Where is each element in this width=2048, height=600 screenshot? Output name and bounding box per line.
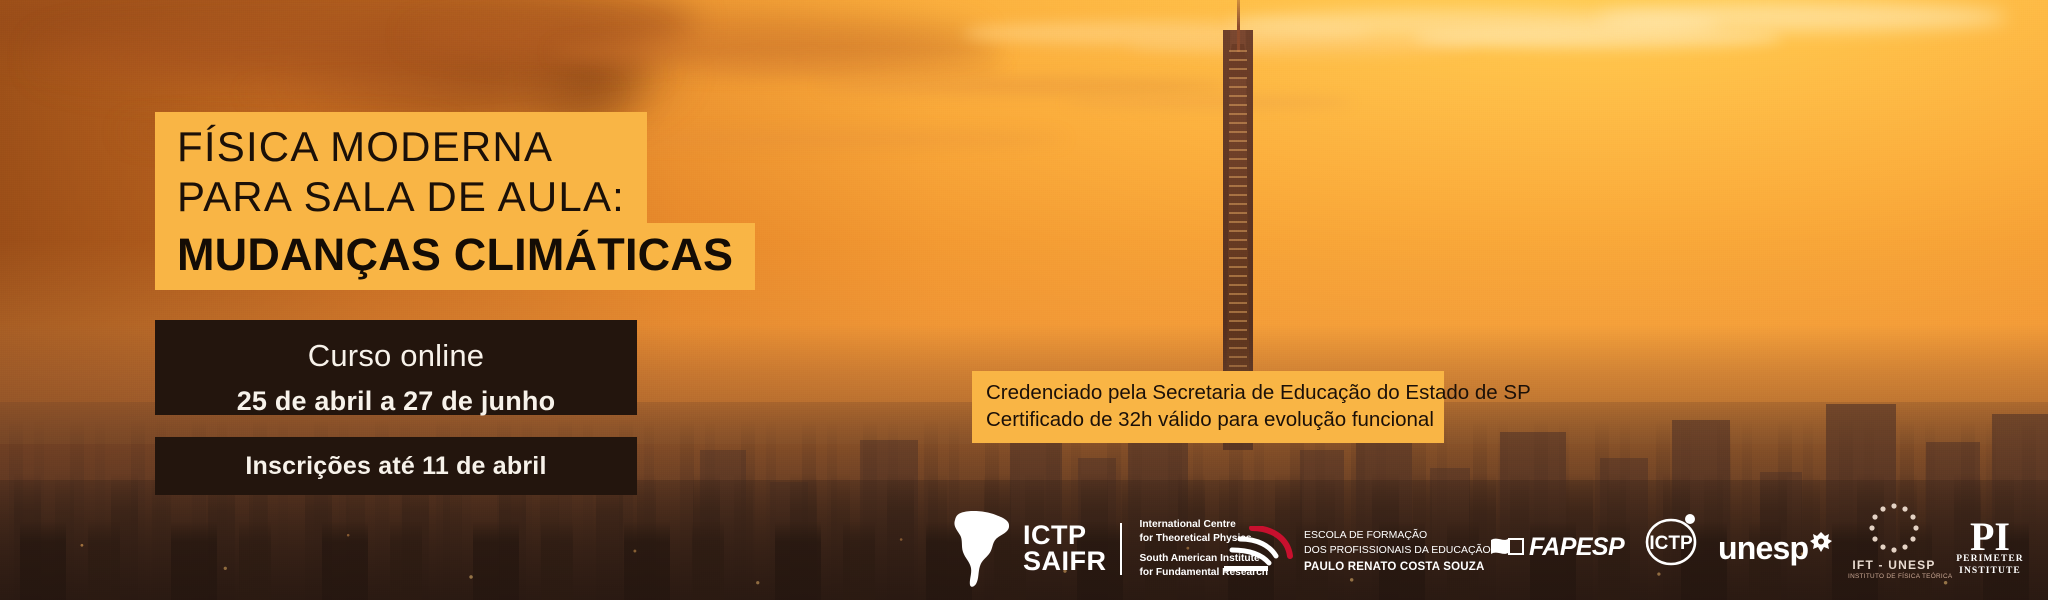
cloud-streak (1413, 27, 1782, 49)
sponsor-logo-strip: ICTP SAIFR International Centre for Theo… (0, 480, 2048, 600)
cloud-streak (676, 60, 1004, 78)
escola-swoosh-icon (1222, 526, 1294, 578)
course-subject-block: MUDANÇAS CLIMÁTICAS (155, 223, 755, 290)
perimeter-name-line-2: INSTITUTE (1944, 566, 2036, 578)
spire-tower-antenna (1237, 0, 1240, 52)
unesp-emblem-icon (1810, 532, 1832, 552)
course-dates-label: 25 de abril a 27 de junho (155, 371, 637, 415)
fapesp-logo: FAPESP (1490, 533, 1624, 562)
escola-line-2: DOS PROFISSIONAIS DA EDUCAÇÃO (1304, 543, 1491, 559)
south-america-map-icon (952, 510, 1014, 588)
course-format-label: Curso online (155, 320, 637, 371)
ift-unesp-logo: IFT - UNESP INSTITUTO DE FÍSICA TEÓRICA (1848, 501, 1940, 580)
cloud-streak (246, 84, 615, 102)
escola-line-3: PAULO RENATO COSTA SOUZA (1304, 559, 1491, 576)
course-title-line-1: FÍSICA MODERNA (177, 122, 625, 172)
perimeter-institute-logo: PI PERIMETER INSTITUTE (1944, 519, 2036, 578)
course-subject-text: MUDANÇAS CLIMÁTICAS (177, 231, 733, 278)
perimeter-pi-glyph: PI (1944, 519, 2036, 554)
credential-line-2: Certificado de 32h válido para evolução … (986, 406, 1430, 433)
ictp-orbit-icon: ICTP (1640, 512, 1702, 568)
unesp-wordmark: unesp (1718, 532, 1808, 564)
credential-line-1: Credenciado pela Secretaria de Educação … (986, 379, 1430, 406)
unesp-logo: unesp (1718, 532, 1832, 564)
perimeter-name-line-1: PERIMETER (1944, 554, 2036, 566)
ift-dotted-ring-icon (1867, 501, 1921, 555)
fapesp-flag-icon (1490, 536, 1524, 559)
course-format-box: Curso online 25 de abril a 27 de junho (155, 320, 637, 415)
ift-wordmark: IFT - UNESP (1848, 558, 1940, 572)
cloud-streak (1597, 3, 2007, 31)
ictp-saifr-logo: ICTP SAIFR International Centre for Theo… (952, 510, 1268, 588)
escola-formacao-text: ESCOLA DE FORMAÇÃO DOS PROFISSIONAIS DA … (1304, 528, 1491, 577)
svg-text:ICTP: ICTP (1649, 533, 1693, 554)
ictp-divider (1120, 523, 1122, 575)
escola-line-1: ESCOLA DE FORMAÇÃO (1304, 528, 1491, 544)
event-banner: FÍSICA MODERNA PARA SALA DE AULA: MUDANÇ… (0, 0, 2048, 600)
ictp-roundel-logo: ICTP (1640, 512, 1702, 568)
ictp-acronym-line-2: SAIFR (1023, 549, 1107, 575)
escola-formacao-logo: ESCOLA DE FORMAÇÃO DOS PROFISSIONAIS DA … (1222, 526, 1491, 578)
cloud-streak (819, 78, 1229, 94)
ift-subtitle: INSTITUTO DE FÍSICA TEÓRICA (1848, 573, 1940, 580)
fapesp-wordmark: FAPESP (1529, 533, 1624, 562)
ictp-saifr-acronym: ICTP SAIFR (1023, 523, 1107, 574)
course-title-block: FÍSICA MODERNA PARA SALA DE AULA: (155, 112, 647, 227)
course-title-line-2: PARA SALA DE AULA: (177, 172, 625, 222)
credential-box: Credenciado pela Secretaria de Educação … (972, 371, 1444, 443)
